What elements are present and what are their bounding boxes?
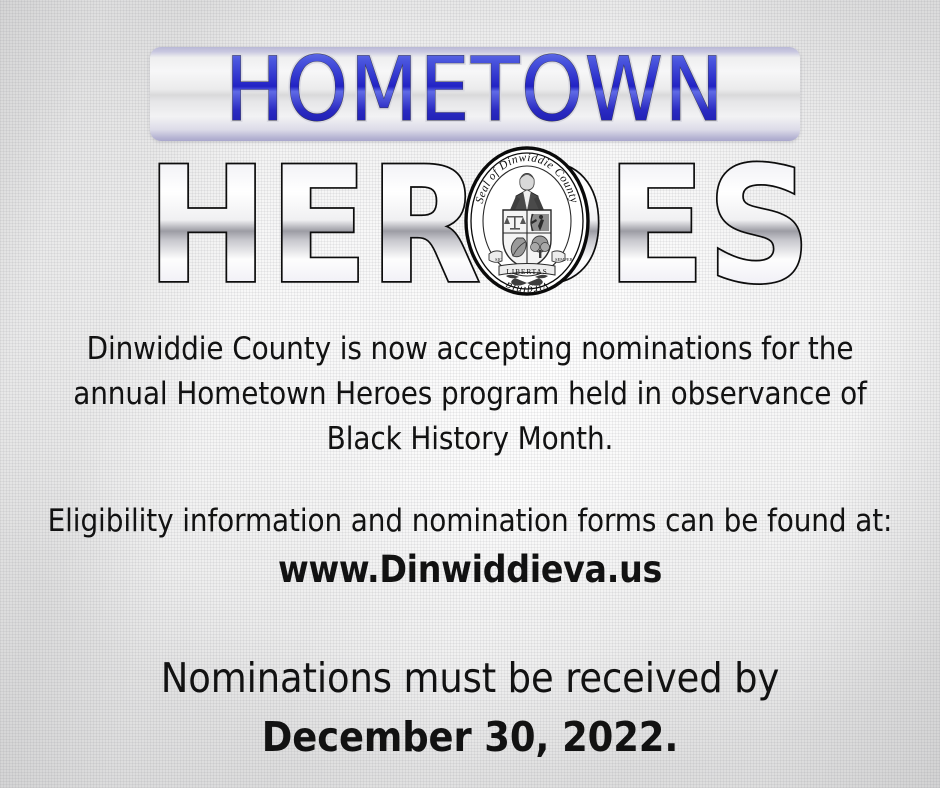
intro-line-3: Black History Month. [0, 417, 940, 462]
intro-line-2: annual Hometown Heroes program held in o… [0, 372, 940, 417]
dinwiddie-county-seal: Seal of Dinwiddie County Virginia [463, 146, 591, 296]
deadline-date: December 30, 2022. [0, 709, 940, 765]
deadline-lead-line: Nominations must be received by [0, 650, 940, 706]
seal-scroll-right-text: SEMPER [555, 257, 573, 262]
seal-motto-text: LIBERTAS [506, 267, 547, 276]
hometown-wordmark: HOMETOWN HOMETOWN [150, 47, 800, 141]
seal-scroll-left-text: SIC [495, 257, 502, 262]
hometown-banner-plate: HOMETOWN HOMETOWN [150, 47, 800, 141]
intro-line-1: Dinwiddie County is now accepting nomina… [0, 327, 940, 372]
poster-content: HOMETOWN HOMETOWN [0, 0, 940, 788]
eligibility-line: Eligibility information and nomination f… [0, 500, 940, 542]
website-url[interactable]: www.Dinwiddieva.us [0, 545, 940, 595]
shield-archer-icon [531, 214, 549, 231]
heroes-row: HEROES Seal of Dinwiddie County [150, 140, 810, 300]
hometown-text-inline: HOMETOWN [225, 50, 725, 138]
intro-paragraph: Dinwiddie County is now accepting nomina… [0, 327, 940, 462]
poster-canvas: HOMETOWN HOMETOWN [0, 0, 940, 788]
